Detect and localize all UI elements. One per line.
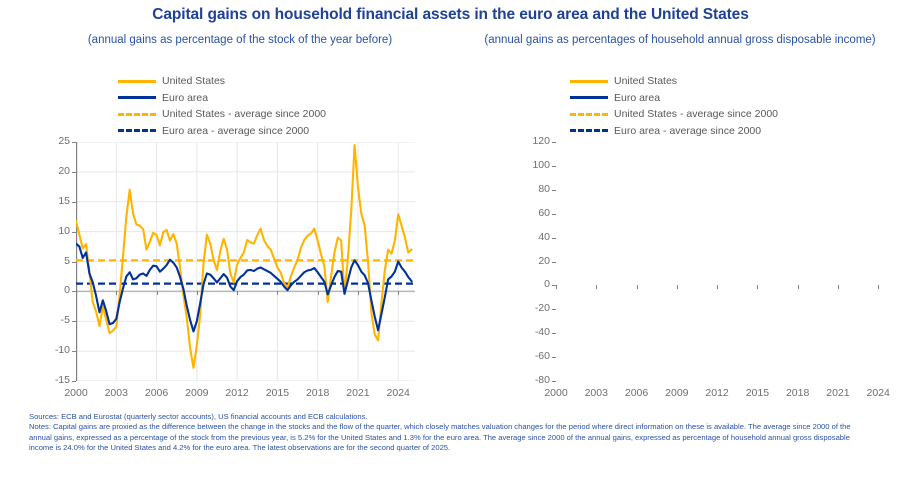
y-axis-tick-mark xyxy=(72,172,76,173)
y-axis-tick-mark xyxy=(72,381,76,382)
x-axis-tick-mark xyxy=(838,285,839,289)
y-axis-tick-label: -20 xyxy=(510,302,550,314)
x-axis-tick-label: 2003 xyxy=(96,387,136,399)
y-axis-tick-mark xyxy=(72,202,76,203)
y-axis-tick-label: 60 xyxy=(510,207,550,219)
x-axis-tick-label: 2003 xyxy=(576,387,616,399)
y-axis-tick-label: 25 xyxy=(30,135,70,147)
y-axis-tick-label: 10 xyxy=(30,225,70,237)
x-axis-tick-mark xyxy=(398,291,399,295)
x-axis-tick-mark xyxy=(717,285,718,289)
x-axis-tick-mark xyxy=(596,285,597,289)
chart-panel-right xyxy=(450,0,901,410)
y-axis-tick-label: 20 xyxy=(30,165,70,177)
x-axis-tick-mark xyxy=(237,291,238,295)
y-axis-tick-label: -15 xyxy=(30,374,70,386)
footnotes: Sources: ECB and Eurostat (quarterly sec… xyxy=(29,412,874,454)
x-axis-tick-mark xyxy=(277,291,278,295)
y-axis-tick-mark xyxy=(552,309,556,310)
x-axis-tick-label: 2006 xyxy=(617,387,657,399)
y-axis-tick-mark xyxy=(552,262,556,263)
y-axis-tick-mark xyxy=(72,262,76,263)
x-axis-tick-mark xyxy=(157,291,158,295)
y-axis-tick-label: 80 xyxy=(510,183,550,195)
x-axis-tick-mark xyxy=(556,285,557,289)
y-axis-tick-mark xyxy=(552,381,556,382)
x-axis-tick-mark xyxy=(358,291,359,295)
x-axis-tick-label: 2015 xyxy=(737,387,777,399)
x-axis-tick-label: 2024 xyxy=(378,387,418,399)
series-line xyxy=(76,145,412,368)
x-axis-tick-label: 2024 xyxy=(858,387,898,399)
x-axis-tick-label: 2009 xyxy=(177,387,217,399)
notes-text: Notes: Capital gains are proxied as the … xyxy=(29,422,874,453)
y-axis-tick-label: 40 xyxy=(510,231,550,243)
y-axis-tick-label: 20 xyxy=(510,255,550,267)
x-axis-tick-label: 2000 xyxy=(536,387,576,399)
y-axis-tick-label: 15 xyxy=(30,195,70,207)
y-axis-tick-mark xyxy=(552,357,556,358)
sources-text: Sources: ECB and Eurostat (quarterly sec… xyxy=(29,412,874,422)
x-axis-tick-mark xyxy=(677,285,678,289)
y-axis-tick-label: -60 xyxy=(510,350,550,362)
x-axis-tick-label: 2021 xyxy=(338,387,378,399)
y-axis-tick-label: 0 xyxy=(510,278,550,290)
x-axis-tick-label: 2000 xyxy=(56,387,96,399)
y-axis-tick-mark xyxy=(72,142,76,143)
x-axis-tick-mark xyxy=(637,285,638,289)
x-axis-tick-label: 2015 xyxy=(257,387,297,399)
x-axis-tick-label: 2006 xyxy=(137,387,177,399)
y-axis-tick-label: 5 xyxy=(30,255,70,267)
x-axis-tick-mark xyxy=(318,291,319,295)
y-axis-tick-label: 0 xyxy=(30,284,70,296)
chart-svg xyxy=(76,142,415,381)
x-axis-tick-mark xyxy=(76,291,77,295)
y-axis-tick-mark xyxy=(552,190,556,191)
x-axis-tick-label: 2012 xyxy=(697,387,737,399)
y-axis-tick-mark xyxy=(552,333,556,334)
y-axis-tick-label: 120 xyxy=(510,135,550,147)
y-axis-tick-mark xyxy=(552,166,556,167)
x-axis-tick-mark xyxy=(757,285,758,289)
x-axis-tick-label: 2021 xyxy=(818,387,858,399)
x-axis-tick-label: 2018 xyxy=(298,387,338,399)
y-axis-tick-mark xyxy=(552,238,556,239)
y-axis-tick-label: -5 xyxy=(30,314,70,326)
series-line xyxy=(76,244,412,332)
y-axis-tick-label: -80 xyxy=(510,374,550,386)
y-axis-tick-mark xyxy=(552,214,556,215)
y-axis-tick-mark xyxy=(72,321,76,322)
plot-area-left xyxy=(76,142,415,381)
x-axis-tick-label: 2012 xyxy=(217,387,257,399)
y-axis-tick-mark xyxy=(552,142,556,143)
x-axis-tick-mark xyxy=(878,285,879,289)
y-axis-tick-mark xyxy=(72,232,76,233)
x-axis-tick-mark xyxy=(197,291,198,295)
y-axis-tick-label: 100 xyxy=(510,159,550,171)
x-axis-tick-label: 2009 xyxy=(657,387,697,399)
y-axis-tick-label: -10 xyxy=(30,344,70,356)
x-axis-tick-label: 2018 xyxy=(778,387,818,399)
x-axis-tick-mark xyxy=(798,285,799,289)
x-axis-tick-mark xyxy=(116,291,117,295)
y-axis-tick-mark xyxy=(72,351,76,352)
y-axis-tick-label: -40 xyxy=(510,326,550,338)
